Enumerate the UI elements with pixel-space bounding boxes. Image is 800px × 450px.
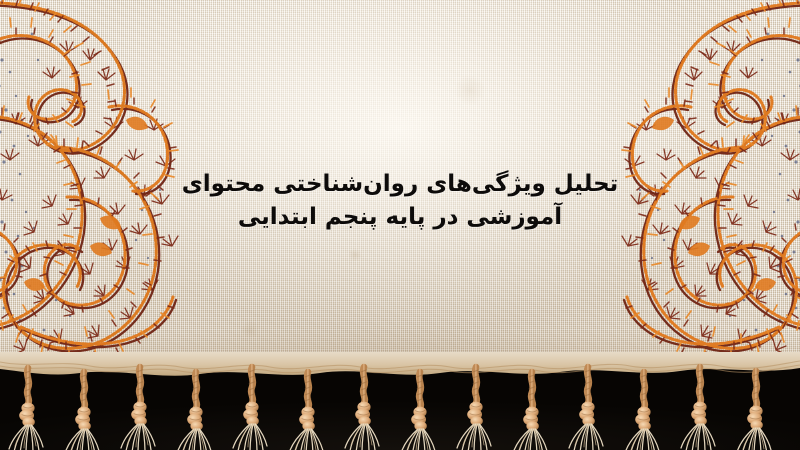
slide-title: تحلیل ویژگی‌های روان‌شناختی محتوای آموزش… xyxy=(0,168,800,234)
tassel xyxy=(289,372,323,450)
tassel xyxy=(457,367,491,450)
tassel xyxy=(345,367,379,450)
cloth-selvedge xyxy=(0,352,800,376)
tassel xyxy=(737,371,771,450)
tassel xyxy=(513,372,547,450)
tassel xyxy=(401,372,435,450)
tassel-fringe xyxy=(0,352,800,450)
tassel-group xyxy=(9,367,771,450)
slide-canvas: تحلیل ویژگی‌های روان‌شناختی محتوای آموزش… xyxy=(0,0,800,450)
tassel xyxy=(9,368,43,450)
tassel xyxy=(233,367,267,450)
tassel xyxy=(569,367,603,450)
tassel xyxy=(177,372,211,450)
tassel xyxy=(681,367,715,450)
tassel xyxy=(625,372,659,450)
title-line-2: آموزشی در پایه پنجم ابتدایی xyxy=(0,201,800,234)
tassel xyxy=(121,367,155,450)
title-line-1: تحلیل ویژگی‌های روان‌شناختی محتوای xyxy=(0,168,800,201)
tassel xyxy=(65,372,99,450)
